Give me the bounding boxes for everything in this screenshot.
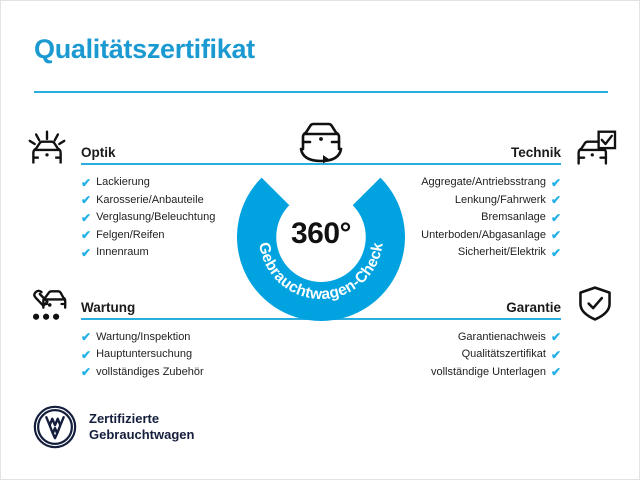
list-item: vollständige Unterlagen✔ <box>379 364 619 382</box>
page-title: Qualitätszertifikat <box>34 34 255 65</box>
section-garantie-title: Garantie <box>506 300 561 315</box>
check-icon: ✔ <box>551 177 561 189</box>
section-garantie-header: Garantie <box>379 284 619 320</box>
list-item-label: Lenkung/Fahrwerk <box>455 192 546 210</box>
list-item: Bremsanlage✔ <box>379 209 619 227</box>
vw-text-line2: Gebrauchtwagen <box>89 427 194 443</box>
list-item-label: Garantienachweis <box>458 329 546 347</box>
check-icon: ✔ <box>551 194 561 206</box>
title-divider <box>34 91 608 93</box>
check-icon: ✔ <box>81 177 91 189</box>
section-technik-header: Technik <box>379 129 619 165</box>
section-garantie-list: Garantienachweis✔ Qualitätszertifikat✔ v… <box>379 320 619 382</box>
left-column: Optik ✔Lackierung ✔Karosserie/Anbauteile… <box>23 129 263 381</box>
car-shine-icon <box>25 129 69 169</box>
section-technik: Technik Aggregate/Antriebsstrang✔ Lenkun… <box>379 129 619 262</box>
list-item: ✔vollständiges Zubehör <box>23 364 263 382</box>
section-optik-list: ✔Lackierung ✔Karosserie/Anbauteile ✔Verg… <box>23 165 263 262</box>
list-item: ✔Karosserie/Anbauteile <box>23 192 263 210</box>
check-icon: ✔ <box>551 247 561 259</box>
check-icon: ✔ <box>81 349 91 361</box>
list-item-label: Hauptuntersuchung <box>96 346 192 364</box>
list-item: Sicherheit/Elektrik✔ <box>379 244 619 262</box>
section-wartung-list: ✔Wartung/Inspektion ✔Hauptuntersuchung ✔… <box>23 320 263 382</box>
list-item-label: Felgen/Reifen <box>96 227 165 245</box>
list-item: Qualitätszertifikat✔ <box>379 346 619 364</box>
vw-logo <box>33 405 77 449</box>
check-icon: ✔ <box>551 229 561 241</box>
list-item: Aggregate/Antriebsstrang✔ <box>379 174 619 192</box>
list-item: Unterboden/Abgasanlage✔ <box>379 227 619 245</box>
check-icon: ✔ <box>551 349 561 361</box>
check-icon: ✔ <box>81 331 91 343</box>
list-item: ✔Verglasung/Beleuchtung <box>23 209 263 227</box>
section-optik: Optik ✔Lackierung ✔Karosserie/Anbauteile… <box>23 129 263 262</box>
section-wartung-header: Wartung <box>23 284 263 320</box>
list-item: ✔Hauptuntersuchung <box>23 346 263 364</box>
list-item-label: Qualitätszertifikat <box>462 346 546 364</box>
list-item: Lenkung/Fahrwerk✔ <box>379 192 619 210</box>
list-item-label: Wartung/Inspektion <box>96 329 190 347</box>
check-icon: ✔ <box>551 331 561 343</box>
badge-center-label: 360° <box>237 217 405 251</box>
car-wrench-icon <box>25 284 69 324</box>
list-item-label: Karosserie/Anbauteile <box>96 192 204 210</box>
check-icon: ✔ <box>81 366 91 378</box>
list-item: Garantienachweis✔ <box>379 329 619 347</box>
check-icon: ✔ <box>81 247 91 259</box>
list-item-label: Lackierung <box>96 174 150 192</box>
vw-certified-text: Zertifizierte Gebrauchtwagen <box>89 411 194 443</box>
list-item-label: Unterboden/Abgasanlage <box>421 227 546 245</box>
section-optik-title: Optik <box>81 145 116 160</box>
section-wartung: Wartung ✔Wartung/Inspektion ✔Hauptunters… <box>23 284 263 382</box>
car-rotate-icon <box>289 115 353 171</box>
check-icon: ✔ <box>81 194 91 206</box>
list-item-label: Bremsanlage <box>481 209 546 227</box>
list-item-label: vollständige Unterlagen <box>431 364 546 382</box>
list-item: ✔Innenraum <box>23 244 263 262</box>
check-icon: ✔ <box>81 212 91 224</box>
list-item-label: Innenraum <box>96 244 149 262</box>
check-icon: ✔ <box>551 212 561 224</box>
section-optik-header: Optik <box>23 129 263 165</box>
car-checkbox-icon <box>573 129 617 169</box>
list-item: ✔Felgen/Reifen <box>23 227 263 245</box>
list-item: ✔Lackierung <box>23 174 263 192</box>
section-wartung-title: Wartung <box>81 300 135 315</box>
list-item-label: Sicherheit/Elektrik <box>458 244 546 262</box>
gebrauchtwagen-check-badge: Gebrauchtwagen-Check 360° <box>237 153 405 321</box>
section-technik-title: Technik <box>511 145 561 160</box>
vw-text-line1: Zertifizierte <box>89 411 194 427</box>
list-item-label: vollständiges Zubehör <box>96 364 204 382</box>
shield-check-icon <box>573 284 617 324</box>
list-item-label: Verglasung/Beleuchtung <box>96 209 215 227</box>
right-column: Technik Aggregate/Antriebsstrang✔ Lenkun… <box>379 129 619 381</box>
vw-certified-footer: Zertifizierte Gebrauchtwagen <box>33 405 194 449</box>
check-icon: ✔ <box>81 229 91 241</box>
list-item: ✔Wartung/Inspektion <box>23 329 263 347</box>
list-item-label: Aggregate/Antriebsstrang <box>421 174 546 192</box>
section-garantie: Garantie Garantienachweis✔ Qualitätszert… <box>379 284 619 382</box>
section-technik-list: Aggregate/Antriebsstrang✔ Lenkung/Fahrwe… <box>379 165 619 262</box>
qualitaetszertifikat-page: Qualitätszertifikat <box>0 0 640 480</box>
check-icon: ✔ <box>551 366 561 378</box>
